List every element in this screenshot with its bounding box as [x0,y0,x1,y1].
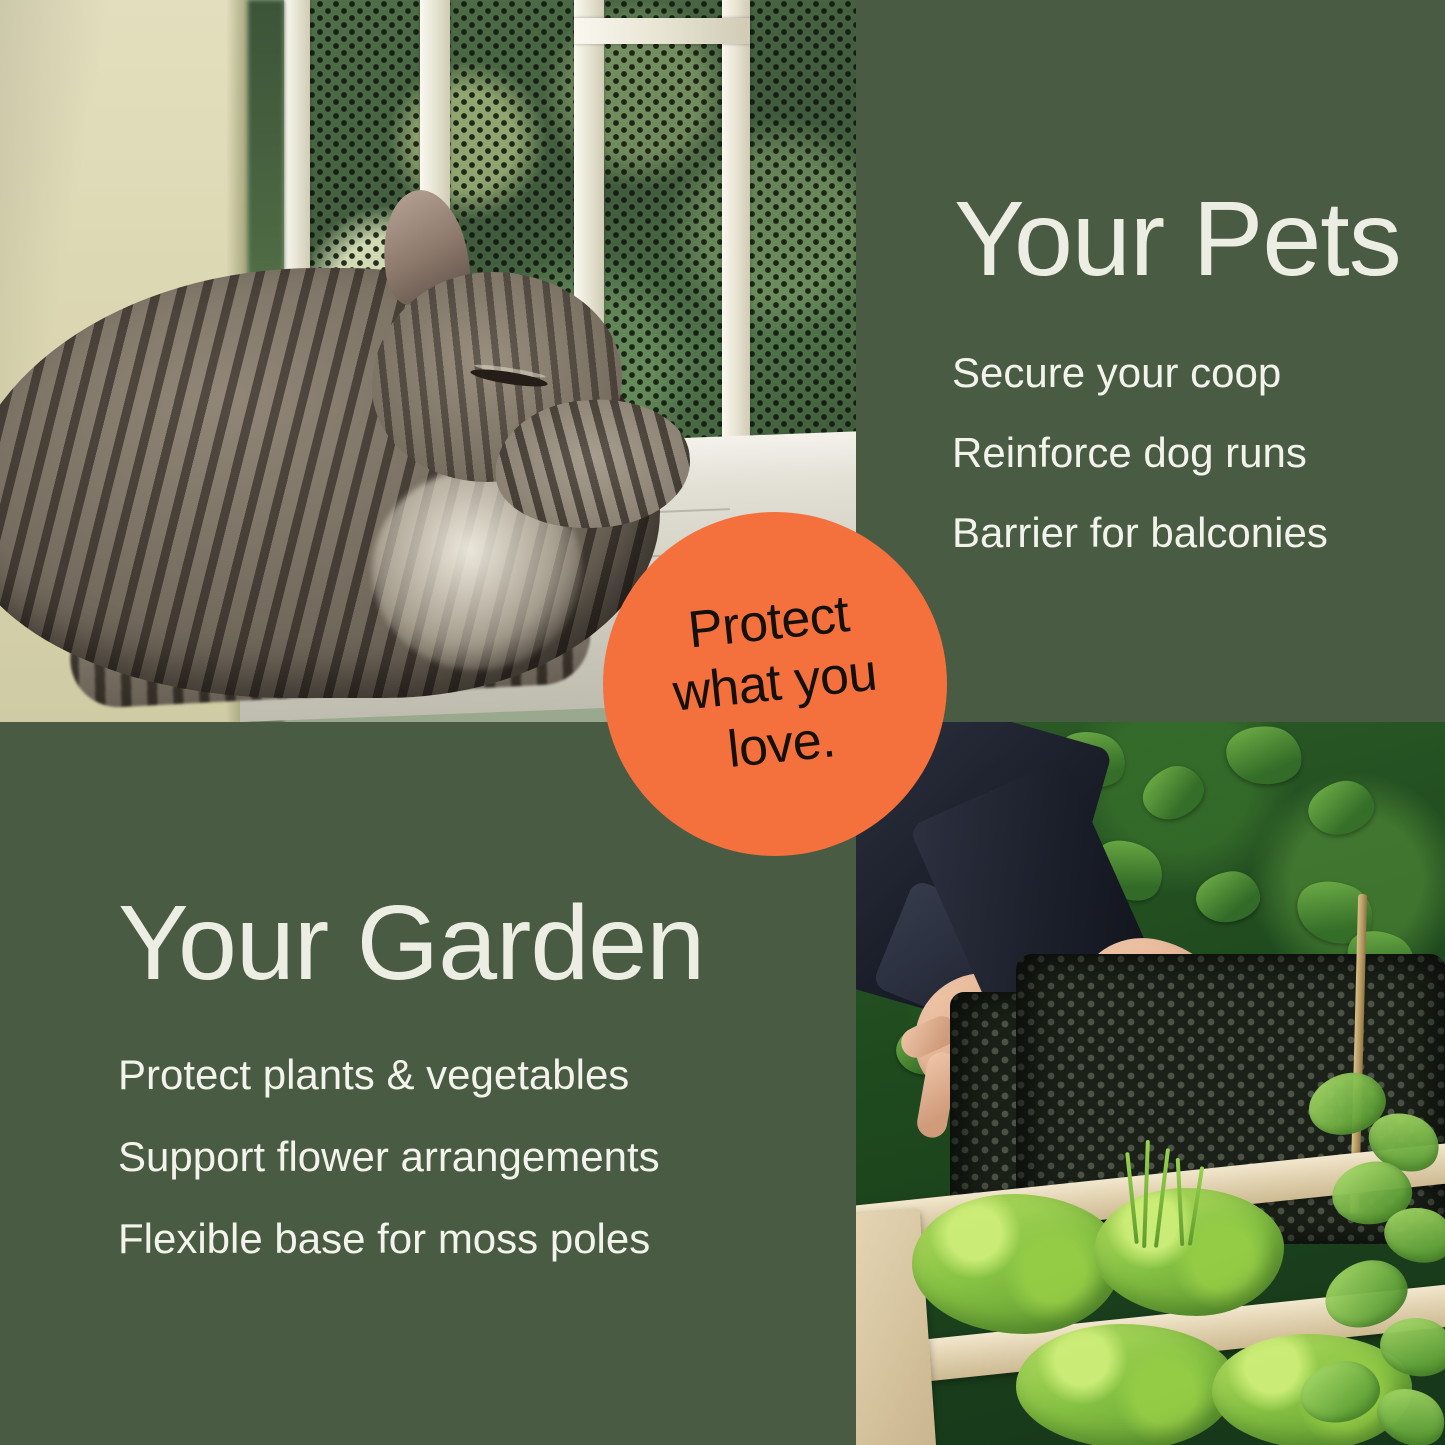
garden-bullet-1: Protect plants & vegetables [118,1054,660,1096]
badge-line-3: love. [725,709,838,781]
garden-bullet-3: Flexible base for moss poles [118,1218,660,1260]
garden-heading: Your Garden [118,890,704,996]
product-feature-poster: Your Pets Secure your coop Reinforce dog… [0,0,1445,1445]
lettuce-head [912,1194,1122,1334]
garden-bullet-2: Support flower arrangements [118,1136,660,1178]
window-frame-transom [574,18,750,44]
pets-bullet-1: Secure your coop [952,352,1328,394]
pets-heading: Your Pets [954,186,1401,292]
protect-what-you-love-badge: Protect what you love. [603,512,947,856]
garden-bullet-list: Protect plants & vegetables Support flow… [118,1054,660,1300]
lettuce-head [1094,1188,1284,1316]
pets-bullet-3: Barrier for balconies [952,512,1328,554]
lettuce-head [1016,1324,1236,1445]
pets-bullet-list: Secure your coop Reinforce dog runs Barr… [952,352,1328,592]
badge-text: Protect what you love. [586,495,964,873]
pets-bullet-2: Reinforce dog runs [952,432,1328,474]
window-frame-vertical-4 [722,0,750,470]
